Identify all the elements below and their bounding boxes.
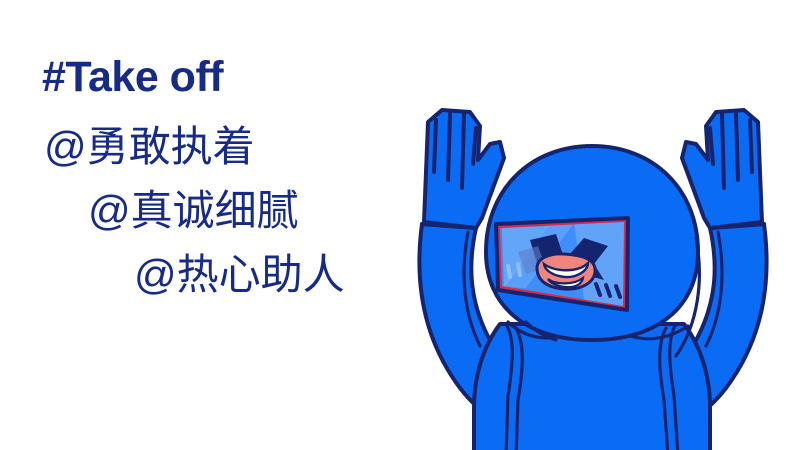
text-block: #Take off @勇敢执着 @真诚细腻 @热心助人 [0, 0, 420, 450]
tagline-item-3: @热心助人 [134, 254, 345, 296]
headline: #Take off [42, 56, 223, 99]
poster-canvas: #Take off @勇敢执着 @真诚细腻 @热心助人 [0, 0, 800, 450]
tagline-item-1: @勇敢执着 [44, 126, 255, 168]
mouth [537, 254, 595, 289]
mascot-svg [398, 88, 788, 450]
mascot-illustration [398, 88, 788, 450]
tagline-item-2: @真诚细腻 [88, 190, 299, 232]
